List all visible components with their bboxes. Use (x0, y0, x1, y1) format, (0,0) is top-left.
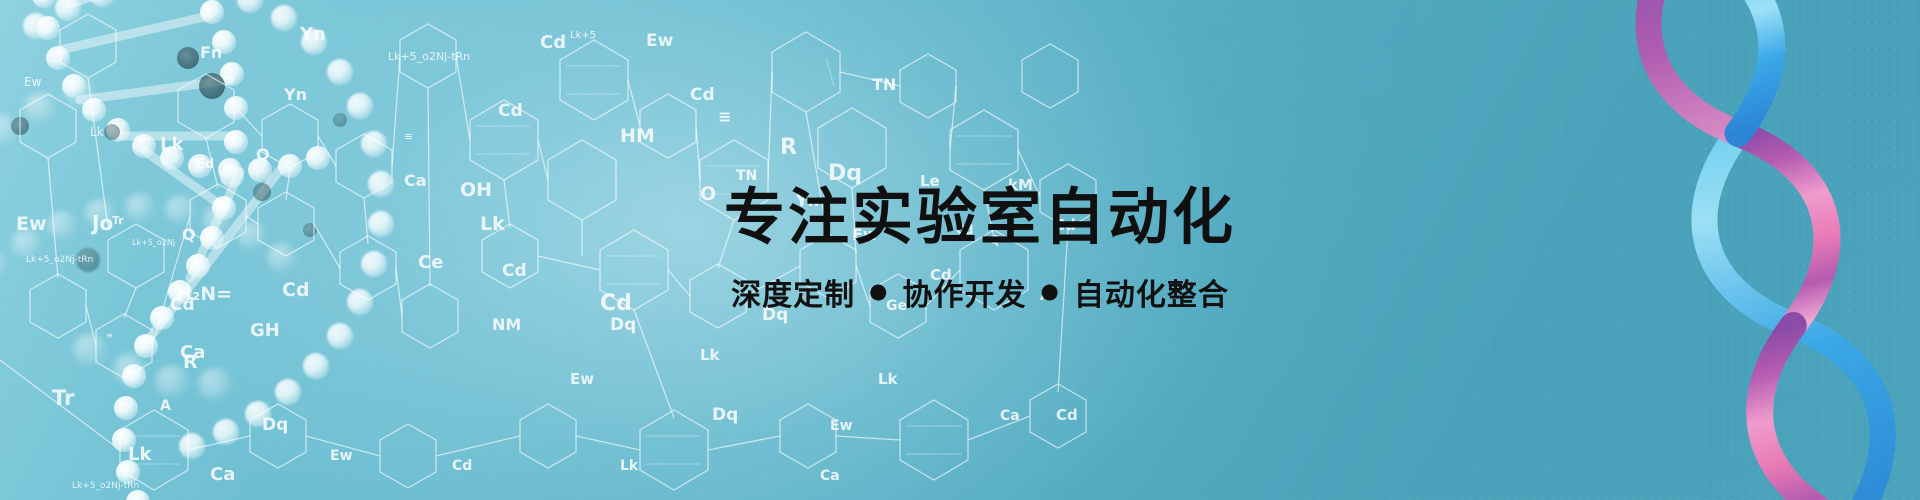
subtitle-item-2: 协作开发 (903, 270, 1027, 314)
banner-subtitle: 深度定制 ● 协作开发 ● 自动化整合 (731, 270, 1229, 314)
bullet-separator-icon: ● (869, 281, 888, 302)
banner-text-block: 专注实验室自动化 深度定制 ● 协作开发 ● 自动化整合 (0, 0, 1920, 500)
banner-headline: 专注实验室自动化 (724, 186, 1236, 250)
hero-banner: Tr Jo Tr Lk+5_o2Nj H₂N= GH Ca Lk+5_o2Nj-… (0, 0, 1920, 500)
subtitle-item-3: 自动化整合 (1074, 270, 1229, 314)
subtitle-item-1: 深度定制 (731, 270, 855, 314)
bullet-separator-icon: ● (1041, 281, 1060, 302)
